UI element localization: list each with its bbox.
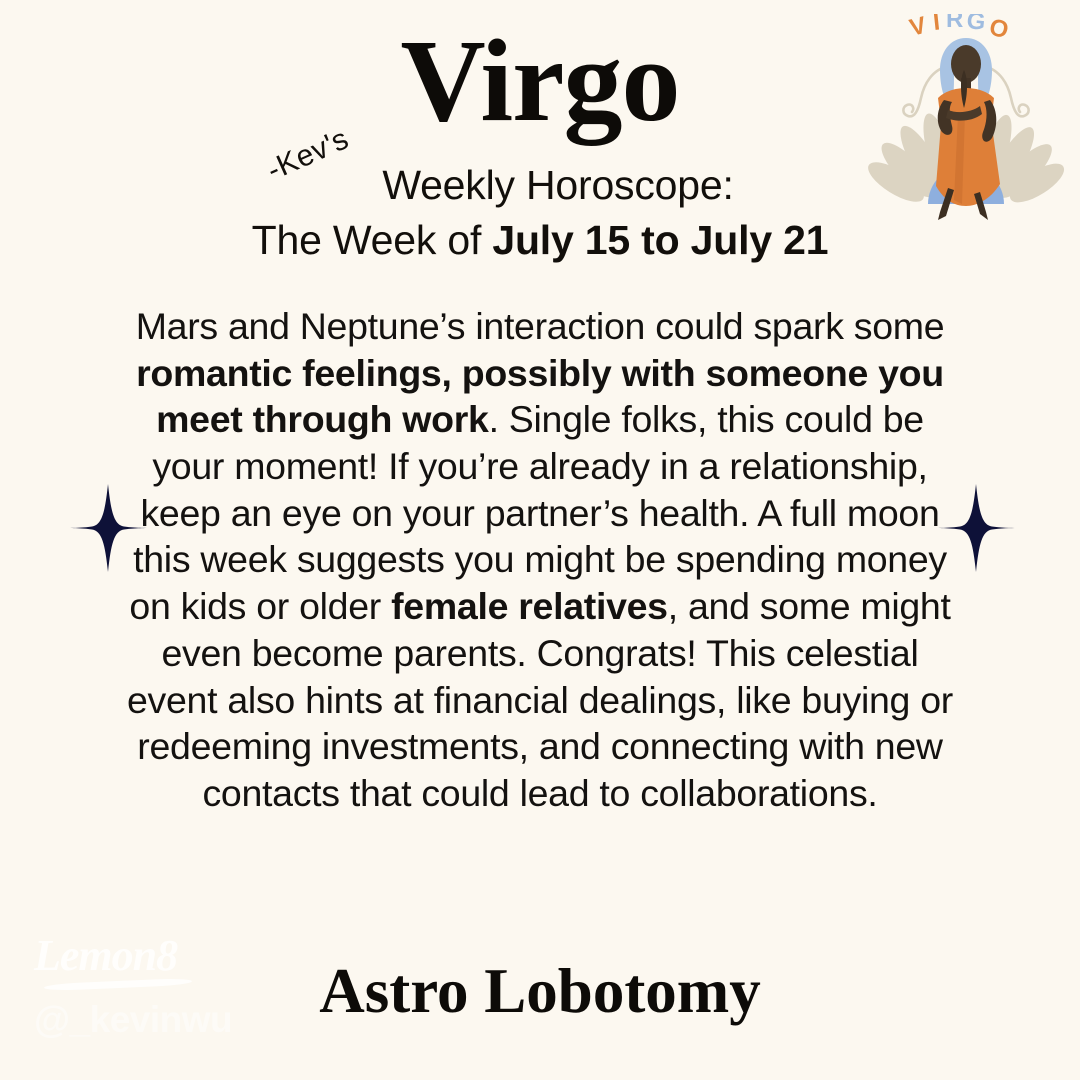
subtitle-prefix: The Week of [252,217,493,263]
lemon8-watermark: Lemon8 @_kevinwu [34,934,264,1054]
subtitle-line-2: The Week of July 15 to July 21 [0,213,1080,268]
horoscope-card: { "card": { "background_color": "#FCF8F0… [0,0,1080,1080]
lemon8-logo-text: Lemon8 [34,934,264,978]
page-title: Virgo [0,0,1080,140]
paragraph-text: Mars and Neptune’s interaction could spa… [136,305,945,347]
card-header: Virgo -Kev's Weekly Horoscope: The Week … [0,0,1080,267]
creator-handle: @_kevinwu [34,1001,264,1038]
subtitle-block: -Kev's Weekly Horoscope: The Week of Jul… [0,158,1080,267]
horoscope-paragraph: Mars and Neptune’s interaction could spa… [126,303,954,817]
subtitle-line-1: Weekly Horoscope: [0,158,1080,213]
date-range: July 15 to July 21 [492,217,828,263]
paragraph-emphasis: female relatives [391,585,668,627]
